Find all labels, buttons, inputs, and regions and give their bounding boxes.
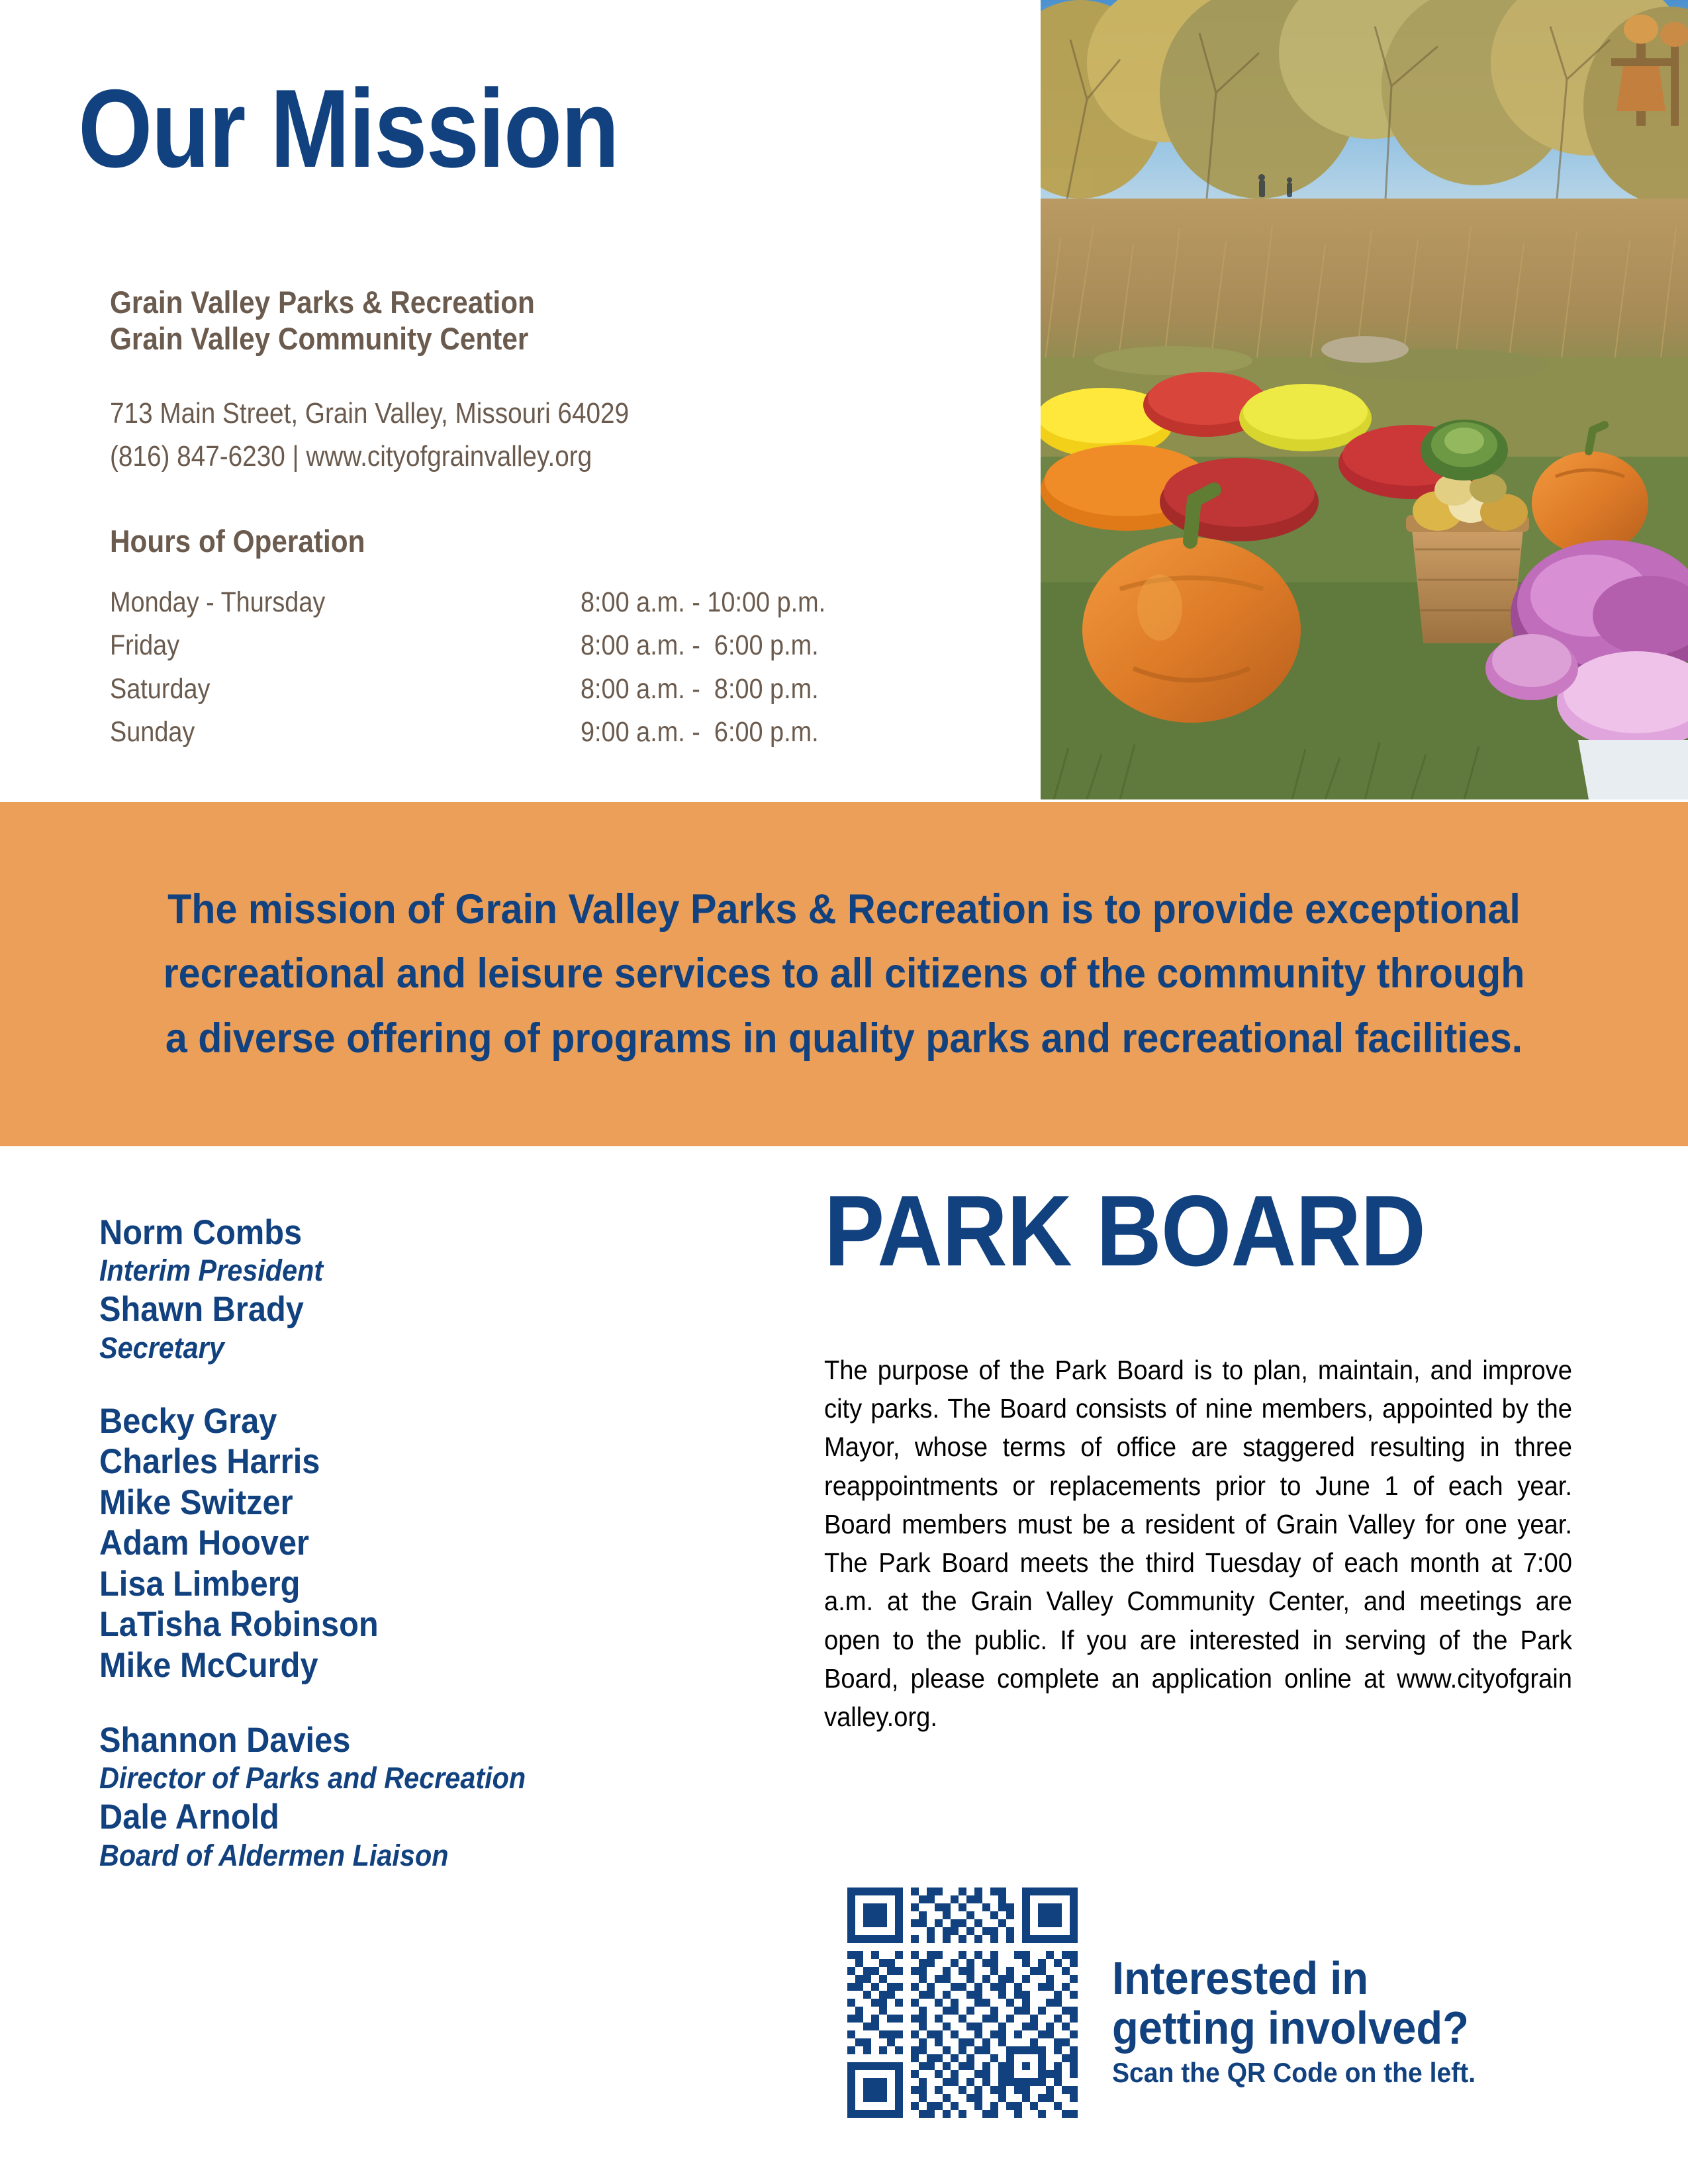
street-address: 713 Main Street, Grain Valley, Missouri …: [110, 392, 879, 435]
qr-code-icon[interactable]: [847, 1888, 1078, 2118]
phone-and-website[interactable]: (816) 847-6230 | www.cityofgrainvalley.o…: [110, 435, 879, 478]
staff-role: Board of Aldermen Liaison: [99, 1838, 708, 1874]
org-name-line1: Grain Valley Parks & Recreation: [110, 285, 884, 321]
board-member-name: Lisa Limberg: [99, 1564, 708, 1604]
hours-time: 8:00 a.m. - 8:00 p.m.: [581, 668, 984, 711]
cta-subtext: Scan the QR Code on the left.: [1112, 2057, 1605, 2089]
park-board-section: Norm Combs Interim President Shawn Brady…: [0, 1146, 1688, 2184]
staff-name: Dale Arnold: [99, 1797, 708, 1837]
staff-role: Director of Parks and Recreation: [99, 1760, 708, 1797]
mission-statement-text: The mission of Grain Valley Parks & Recr…: [147, 878, 1541, 1071]
hours-day: Monday - Thursday: [110, 581, 581, 624]
park-board-column: PARK BOARD The purpose of the Park Board…: [824, 1146, 1638, 1736]
fall-pumpkins-photo: [1041, 0, 1688, 799]
hours-day: Sunday: [110, 711, 581, 754]
cta-headline-line1: Interested in: [1112, 1954, 1605, 2003]
board-member-name: Mike McCurdy: [99, 1645, 708, 1686]
hours-table: Monday - Thursday 8:00 a.m. - 10:00 p.m.…: [110, 581, 984, 754]
table-row: Sunday 9:00 a.m. - 6:00 p.m.: [110, 711, 984, 754]
page-title: Our Mission: [78, 73, 618, 184]
mission-statement-band: The mission of Grain Valley Parks & Recr…: [0, 802, 1688, 1146]
organization-block: Grain Valley Parks & Recreation Grain Va…: [110, 285, 970, 357]
board-member-name: Adam Hoover: [99, 1523, 708, 1563]
hours-time: 8:00 a.m. - 6:00 p.m.: [581, 624, 984, 667]
spacer: [99, 1686, 761, 1720]
table-row: Saturday 8:00 a.m. - 8:00 p.m.: [110, 668, 984, 711]
board-member-name: Charles Harris: [99, 1441, 708, 1482]
table-row: Friday 8:00 a.m. - 6:00 p.m.: [110, 624, 984, 667]
staff-name: Shannon Davies: [99, 1720, 708, 1760]
hours-time: 9:00 a.m. - 6:00 p.m.: [581, 711, 984, 754]
hours-heading: Hours of Operation: [110, 523, 365, 559]
hours-day: Friday: [110, 624, 581, 667]
cta-headline-line2: getting involved?: [1112, 2003, 1605, 2053]
hours-time: 8:00 a.m. - 10:00 p.m.: [581, 581, 984, 624]
org-name-line2: Grain Valley Community Center: [110, 321, 884, 357]
park-board-title: PARK BOARD: [824, 1181, 1557, 1281]
board-member-name: Mike Switzer: [99, 1482, 708, 1523]
park-board-description: The purpose of the Park Board is to plan…: [824, 1351, 1572, 1736]
officer-name: Shawn Brady: [99, 1289, 708, 1330]
officer-name: Norm Combs: [99, 1212, 708, 1253]
cta-text-block: Interested in getting involved? Scan the…: [1112, 1954, 1642, 2089]
officer-role: Secretary: [99, 1330, 708, 1367]
hours-day: Saturday: [110, 668, 581, 711]
officer-role: Interim President: [99, 1253, 708, 1289]
board-member-name: LaTisha Robinson: [99, 1604, 708, 1645]
board-roster: Norm Combs Interim President Shawn Brady…: [99, 1212, 761, 1874]
table-row: Monday - Thursday 8:00 a.m. - 10:00 p.m.: [110, 581, 984, 624]
spacer: [99, 1367, 761, 1401]
header-section: Our Mission Grain Valley Parks & Recreat…: [0, 0, 1688, 802]
contact-block: 713 Main Street, Grain Valley, Missouri …: [110, 392, 984, 478]
board-member-name: Becky Gray: [99, 1401, 708, 1441]
get-involved-block: Interested in getting involved? Scan the…: [824, 1871, 1652, 2149]
